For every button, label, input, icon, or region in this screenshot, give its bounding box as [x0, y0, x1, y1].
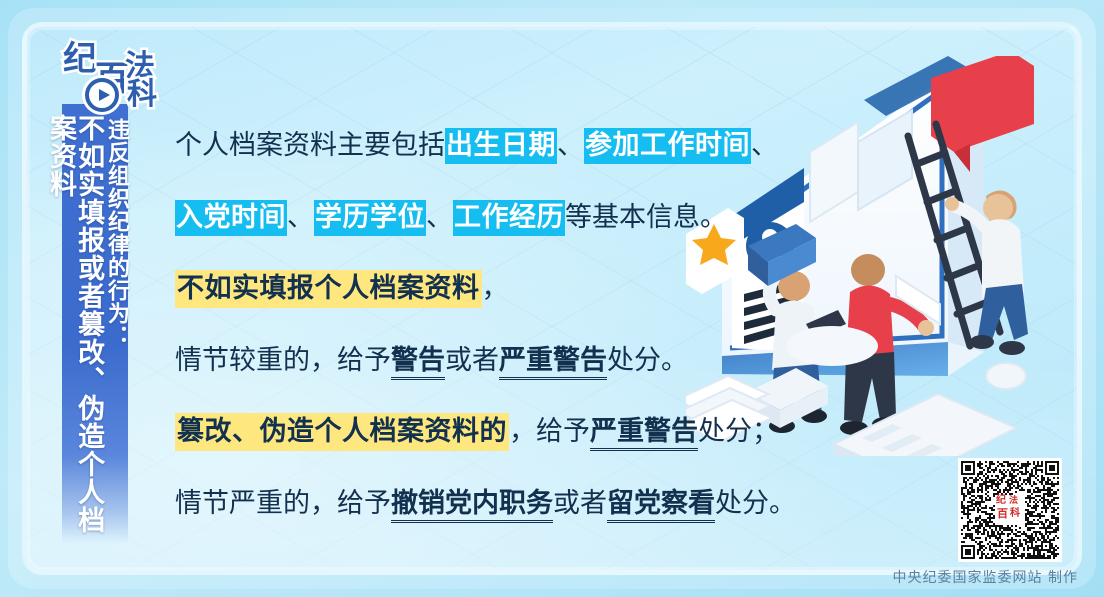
text-segment-double-underline: 留党察看	[607, 488, 715, 523]
text-segment-plain: 处分；	[698, 416, 779, 446]
text-segment-plain: 处分。	[607, 345, 688, 375]
text-segment-double-underline: 警告	[391, 345, 445, 380]
text-segment-highlight-cyan: 学历学位	[314, 200, 426, 236]
body-text-block: 个人档案资料主要包括出生日期、参加工作时间、入党时间、学历学位、工作经历等基本信…	[175, 128, 735, 521]
text-segment-plain: 、	[426, 202, 453, 232]
text-segment-plain: 个人档案资料主要包括	[175, 130, 445, 160]
text-segment-plain: 或者	[553, 488, 607, 518]
logo-char-4: 科	[127, 80, 157, 110]
isometric-illustration	[686, 56, 1086, 456]
text-segment-highlight-cyan: 参加工作时间	[584, 128, 751, 164]
body-text-line-2: 入党时间、学历学位、工作经历等基本信息。	[175, 200, 735, 236]
banner-subject: 不如实填报或者篡改、伪造个人档案资料	[46, 114, 102, 544]
text-segment-plain: 、	[287, 202, 314, 232]
text-segment-double-underline: 撤销党内职务	[391, 488, 553, 523]
text-segment-highlight-cyan: 出生日期	[445, 128, 557, 164]
credit-text: 中央纪委国家监委网站 制作	[893, 567, 1078, 587]
qr-logo-char-4: 科	[1010, 509, 1020, 519]
text-segment-highlight-yellow: 篡改、伪造个人档案资料的	[175, 413, 509, 451]
pedestal	[786, 326, 878, 366]
qr-logo-char-2: 法	[1009, 497, 1018, 506]
body-text-line-3: 不如实填报个人档案资料，	[175, 271, 735, 307]
qr-code[interactable]: 纪 法 百 科	[958, 458, 1062, 562]
text-segment-double-underline: 严重警告	[590, 416, 698, 451]
vertical-banner: 违反组织纪律的行为： 不如实填报或者篡改、伪造个人档案资料	[62, 104, 128, 544]
poster-canvas: 纪 百 法 科 违反组织纪律的行为： 不如实填报或者篡改、伪造个人档案资料 个人…	[0, 0, 1104, 597]
banner-heading: 违反组织纪律的行为：	[105, 114, 128, 544]
text-segment-highlight-cyan: 工作经历	[453, 200, 565, 236]
text-segment-highlight-yellow: 不如实填报个人档案资料	[175, 270, 482, 308]
body-text-line-4: 情节较重的，给予警告或者严重警告处分。	[175, 343, 735, 379]
text-segment-highlight-cyan: 入党时间	[175, 200, 287, 236]
qr-logo-char-3: 百	[997, 508, 1008, 519]
brand-logo: 纪 百 法 科	[57, 40, 175, 118]
text-segment-plain: 情节较重的，给予	[175, 345, 391, 375]
text-segment-double-underline: 严重警告	[499, 345, 607, 380]
text-segment-plain: 处分。	[715, 488, 796, 518]
text-segment-plain: ，	[482, 273, 509, 303]
text-segment-plain: ，给予	[509, 416, 590, 446]
text-segment-plain: 、	[557, 130, 584, 160]
body-text-line-1: 个人档案资料主要包括出生日期、参加工作时间、	[175, 128, 735, 164]
text-segment-plain: 或者	[445, 345, 499, 375]
play-icon	[85, 78, 119, 112]
qr-logo-char-1: 纪	[996, 496, 1006, 506]
body-text-line-5: 篡改、伪造个人档案资料的，给予严重警告处分；	[175, 414, 735, 450]
text-segment-plain: 等基本信息。	[565, 202, 727, 232]
logo-char-1: 纪	[63, 42, 97, 76]
body-text-line-6: 情节严重的，给予撤销党内职务或者留党察看处分。	[175, 486, 735, 522]
qr-center-logo: 纪 法 百 科	[995, 495, 1025, 525]
text-segment-plain: 、	[751, 130, 778, 160]
text-segment-plain: 情节严重的，给予	[175, 488, 391, 518]
mouse	[986, 363, 1026, 389]
